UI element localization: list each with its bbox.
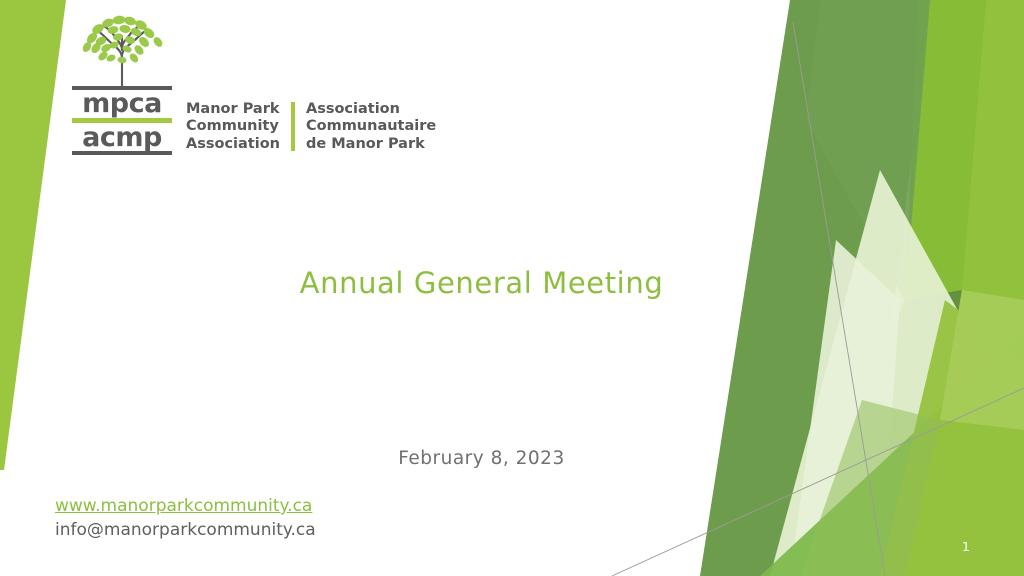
logo-name-english-line3: Association xyxy=(186,136,280,154)
logo-mark: mpca acmp xyxy=(72,14,172,155)
left-green-wedge xyxy=(0,0,66,470)
wordmark-mpca: mpca xyxy=(72,90,172,117)
slide-number: 1 xyxy=(955,539,977,554)
slide-title: Annual General Meeting xyxy=(0,266,963,300)
right-light-overlay xyxy=(940,290,1024,430)
presentation-slide: mpca acmp Manor Park Community Associati… xyxy=(0,0,1024,576)
website-link[interactable]: www.manorparkcommunity.ca xyxy=(55,494,316,518)
logo-name-english-line2: Community xyxy=(186,118,280,136)
tree-icon xyxy=(72,14,172,86)
logo-name-french: Association Communautaire de Manor Park xyxy=(306,101,436,154)
center-dark-facet xyxy=(862,290,962,420)
email-address: info@manorparkcommunity.ca xyxy=(55,518,316,542)
pale-green-sheet xyxy=(770,170,1024,576)
right-mid-green-panel xyxy=(905,0,986,300)
contact-info: www.manorparkcommunity.ca info@manorpark… xyxy=(55,494,316,542)
slide-date: February 8, 2023 xyxy=(0,448,963,469)
logo-name-english-line1: Manor Park xyxy=(186,101,280,119)
logo-name-french-line2: Communautaire xyxy=(306,118,436,136)
lower-light-facet xyxy=(800,400,940,576)
logo-name-french-line1: Association xyxy=(306,101,436,119)
organization-logo: mpca acmp Manor Park Community Associati… xyxy=(72,14,436,155)
logo-wordmark: mpca acmp xyxy=(72,86,172,155)
logo-name-divider xyxy=(291,102,295,152)
bottom-right-bright-block xyxy=(880,300,1024,576)
upper-dark-triangle xyxy=(806,0,930,300)
wordmark-acmp: acmp xyxy=(72,124,172,151)
logo-name-english: Manor Park Community Association xyxy=(186,101,280,154)
logo-name-group: Manor Park Community Association Associa… xyxy=(186,101,436,156)
logo-name-french-line3: de Manor Park xyxy=(306,136,436,154)
